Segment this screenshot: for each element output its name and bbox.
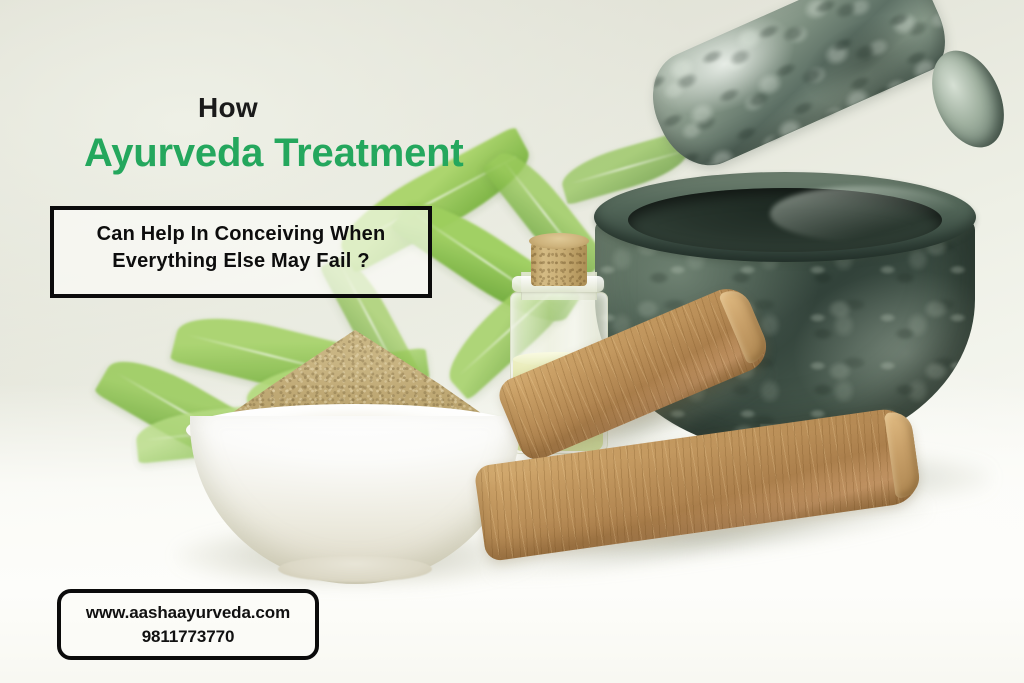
cork-top: [529, 233, 589, 249]
photo-scene: [0, 0, 1024, 683]
subheading-box: Can Help In Conceiving When Everything E…: [50, 206, 432, 298]
contact-box[interactable]: www.aashaayurveda.com 9811773770: [57, 589, 319, 660]
website-url[interactable]: www.aashaayurveda.com: [86, 601, 290, 624]
headline-eyebrow: How: [198, 92, 258, 124]
headline-brand: Ayurveda Treatment: [84, 131, 464, 176]
leaf-vein: [570, 151, 681, 184]
pestle: [636, 0, 958, 180]
subheading-line-1: Can Help In Conceiving When: [97, 221, 386, 248]
phone-number[interactable]: 9811773770: [142, 625, 235, 648]
subheading-line-2: Everything Else May Fail ?: [112, 248, 370, 275]
mortar-rim-highlight: [770, 186, 960, 242]
bowl-foot: [278, 556, 432, 582]
ayurveda-poster: How Ayurveda Treatment Can Help In Conce…: [0, 0, 1024, 683]
pestle-marble-texture: [636, 0, 958, 180]
